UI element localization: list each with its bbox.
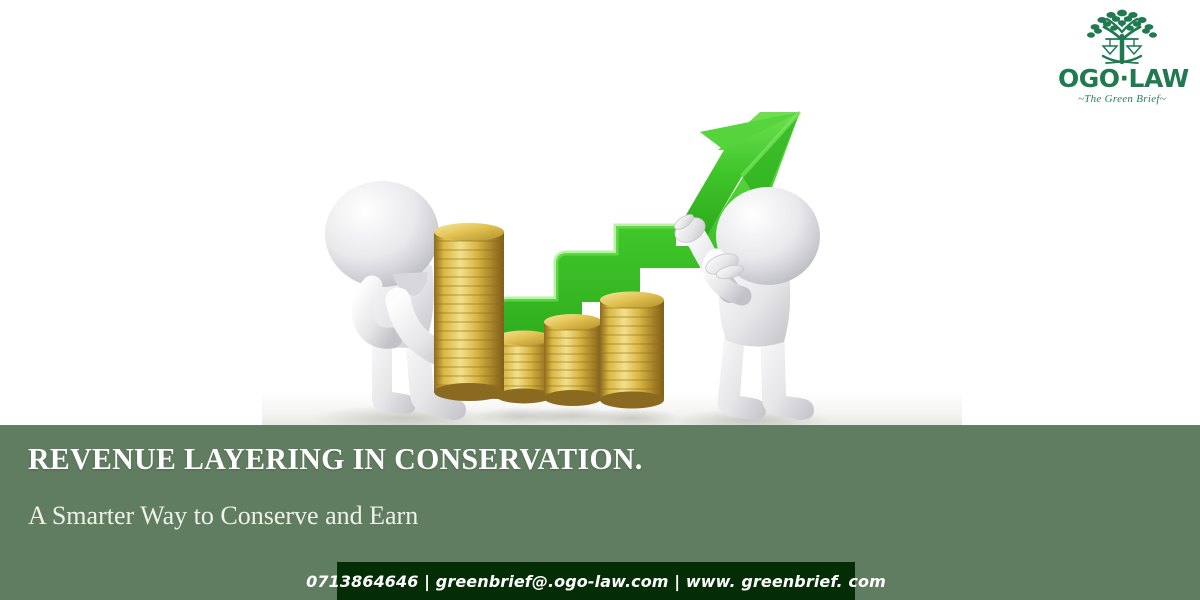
page-subtitle: A Smarter Way to Conserve and Earn <box>28 501 418 531</box>
logo-tagline: ~The Green Brief~ <box>1058 94 1186 105</box>
coin-stack-4 <box>600 292 664 409</box>
coin-stack-2 <box>496 331 552 404</box>
contact-strip[interactable]: 0713864646 | greenbrief@.ogo-law.com | w… <box>337 562 855 600</box>
contact-details: 0713864646 | greenbrief@.ogo-law.com | w… <box>306 572 886 591</box>
coin-stack-tall-carried <box>434 223 504 401</box>
hero-illustration <box>0 0 1200 430</box>
page-title: REVENUE LAYERING IN CONSERVATION. <box>28 441 643 477</box>
illustration-svg <box>0 0 1200 430</box>
figure-head <box>325 181 439 287</box>
tree-with-scales-of-justice-icon <box>1058 6 1186 68</box>
logo-wordmark: OGO·LAW <box>1058 66 1186 91</box>
brand-logo[interactable]: OGO·LAW ~The Green Brief~ <box>1058 6 1186 105</box>
marketing-banner: OGO·LAW ~The Green Brief~ REVENUE LAYERI… <box>0 0 1200 600</box>
coin-stack-3 <box>544 314 602 406</box>
